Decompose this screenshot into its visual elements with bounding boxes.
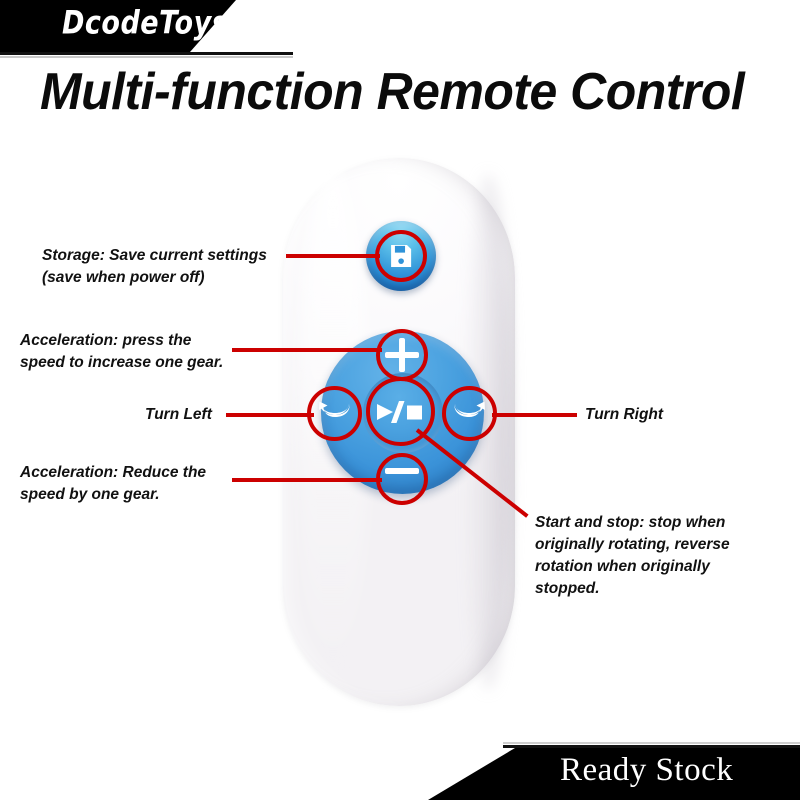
top-banner-rule	[0, 52, 293, 55]
annotation-accel-up-line1: Acceleration: press the	[20, 330, 235, 352]
annotation-storage-line1: Storage: Save current settings	[42, 245, 292, 267]
callout-ring-plus	[376, 329, 428, 381]
leader-line-turn-right	[492, 413, 577, 417]
leader-line-accel-down	[232, 478, 382, 482]
leader-line-storage	[286, 254, 380, 258]
callout-ring-turn-right	[442, 386, 497, 441]
annotation-turn-right: Turn Right	[585, 404, 745, 426]
annotation-accel-up: Acceleration: press the speed to increas…	[20, 330, 235, 374]
bottom-banner-highlight-rule	[503, 742, 800, 744]
brand-logo: DcodeToys	[62, 5, 228, 42]
annotation-storage: Storage: Save current settings (save whe…	[42, 245, 292, 289]
top-banner-highlight-rule	[0, 56, 293, 58]
callout-ring-save	[375, 230, 427, 282]
annotation-start-stop-line3: rotation when originally	[535, 556, 770, 578]
annotation-accel-up-line2: speed to increase one gear.	[20, 352, 235, 374]
page-title: Multi-function Remote Control	[40, 62, 750, 122]
annotation-accel-down-line2: speed by one gear.	[20, 484, 235, 506]
leader-line-accel-up	[232, 348, 382, 352]
stock-badge: Ready Stock	[560, 752, 733, 789]
annotation-accel-down: Acceleration: Reduce the speed by one ge…	[20, 462, 235, 506]
annotation-start-stop-line1: Start and stop: stop when	[535, 512, 770, 534]
annotation-storage-line2: (save when power off)	[42, 267, 292, 289]
callout-ring-turn-left	[307, 386, 362, 441]
annotation-start-stop-line2: originally rotating, reverse	[535, 534, 770, 556]
annotation-turn-left: Turn Left	[145, 404, 265, 426]
callout-ring-minus	[376, 453, 428, 505]
annotation-start-stop: Start and stop: stop when originally rot…	[535, 512, 770, 600]
annotation-accel-down-line1: Acceleration: Reduce the	[20, 462, 235, 484]
product-infographic: DcodeToys Multi-function Remote Control	[0, 0, 800, 800]
annotation-start-stop-line4: stopped.	[535, 578, 770, 600]
bottom-banner-rule	[503, 745, 800, 748]
